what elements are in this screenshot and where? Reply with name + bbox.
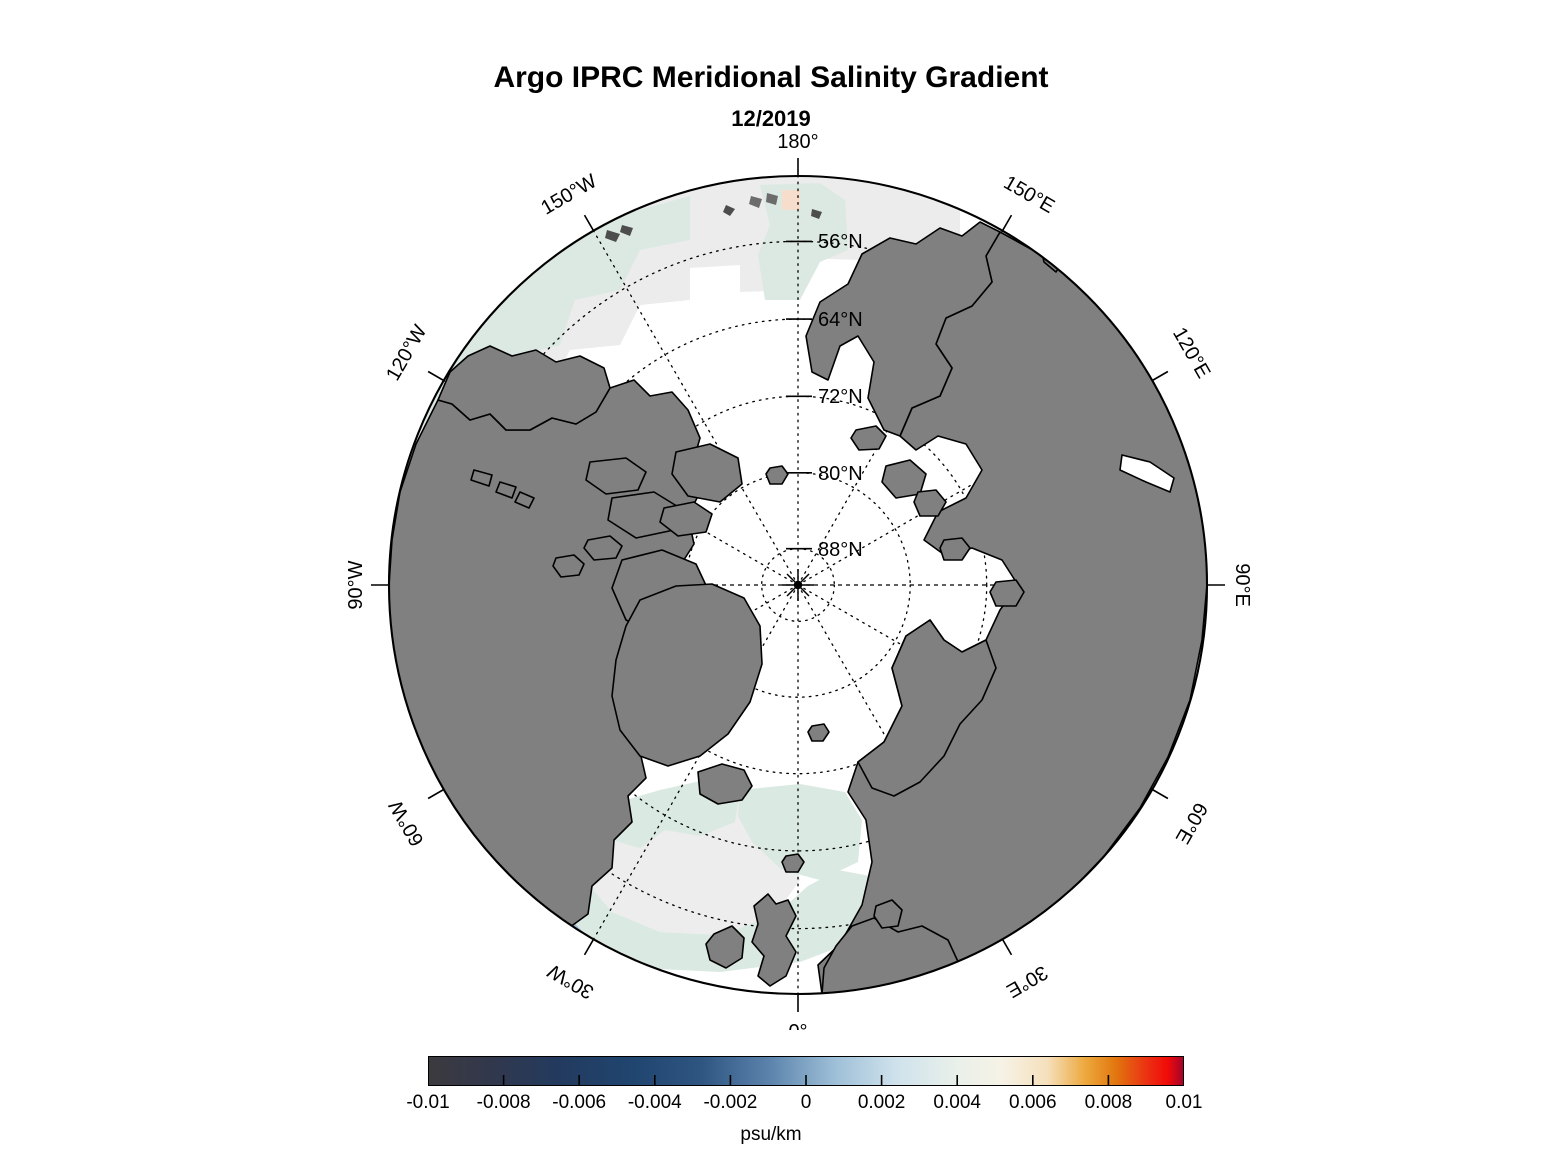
lon-label-0: 0° [788,1021,807,1030]
lon-label-180: 180° [777,131,818,153]
map-canvas [389,176,1207,994]
lon-label-30E: 30°E [1003,961,1052,1002]
colorbar-tick-label: -0.002 [703,1092,757,1114]
lon-label-90W: 90°W [345,560,367,609]
lat-label-80: 80°N [818,463,863,485]
land-severnaya-zemlya [990,580,1024,606]
lon-label-60W: 60°W [385,796,429,850]
lon-label-60E: 60°E [1171,799,1212,848]
colorbar[interactable]: -0.01-0.008-0.006-0.004-0.00200.0020.004… [0,1040,1542,1160]
polar-map-svg: 56°N 64°N 72°N 80°N 88°N 180° 0° 90°W 90… [0,0,1542,1030]
lon-label-120E: 120°E [1168,324,1214,382]
lon-label-150E: 150°E [1000,172,1058,218]
colorbar-track[interactable] [428,1056,1184,1086]
lat-label-64: 64°N [818,309,863,331]
colorbar-gradient [429,1057,1183,1085]
colorbar-tick-label: -0.006 [552,1092,606,1114]
lon-label-120W: 120°W [382,321,431,384]
data-patch-orange-180 [782,190,800,210]
colorbar-unit-label: psu/km [0,1124,1542,1146]
lat-label-56: 56°N [818,231,863,253]
land-iceland [698,764,752,804]
lon-label-30W: 30°W [544,959,598,1003]
colorbar-tick-label: 0.002 [858,1092,906,1114]
lon-label-150W: 150°W [537,170,600,219]
lon-label-90E: 90°E [1231,563,1253,607]
polar-map[interactable]: 56°N 64°N 72°N 80°N 88°N 180° 0° 90°W 90… [0,0,1542,1030]
colorbar-tick-label: 0 [801,1092,812,1114]
colorbar-tick-label: -0.008 [477,1092,531,1114]
colorbar-tick-label: -0.004 [628,1092,682,1114]
lat-label-72: 72°N [818,386,863,408]
figure-root: Argo IPRC Meridional Salinity Gradient 1… [0,0,1542,1167]
colorbar-tick-labels: -0.01-0.008-0.006-0.004-0.00200.0020.004… [428,1092,1184,1118]
colorbar-tick-label: 0.004 [933,1092,981,1114]
colorbar-tick-label: 0.01 [1166,1092,1203,1114]
colorbar-tick-label: 0.008 [1085,1092,1133,1114]
colorbar-tick-label: 0.006 [1009,1092,1057,1114]
lat-label-88: 88°N [818,539,863,561]
data-patch-orange-sliver [460,858,490,880]
colorbar-tick-label: -0.01 [406,1092,449,1114]
